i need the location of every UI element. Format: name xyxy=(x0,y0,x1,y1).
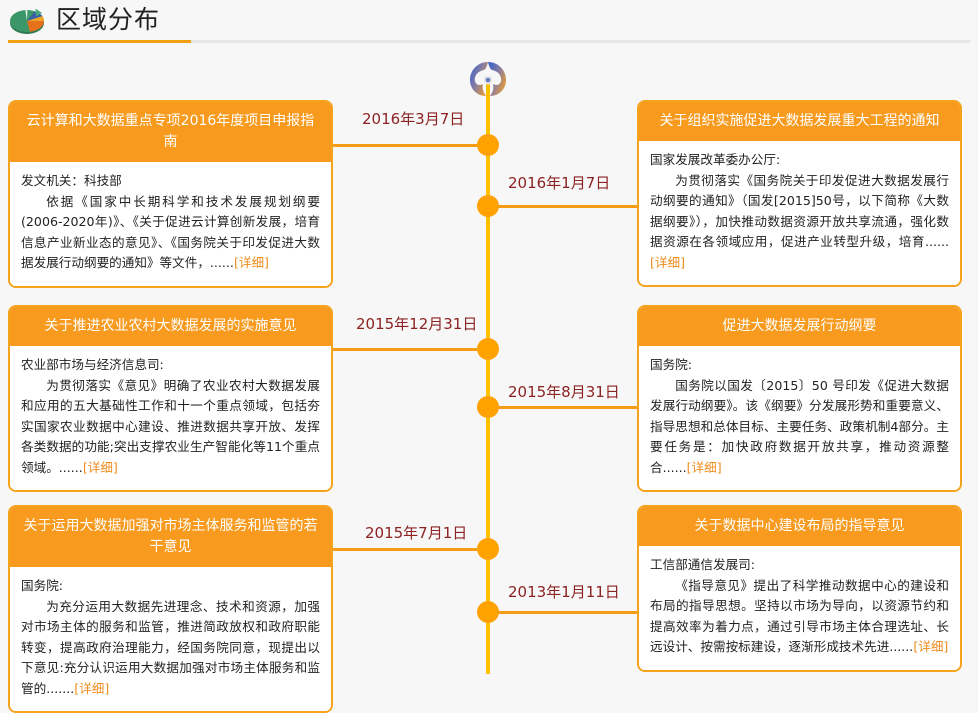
timeline-card-summary: 国务院以国发〔2015〕50 号印发《促进大数据发展行动纲要》。该《纲要》分发展… xyxy=(650,376,949,479)
timeline-card-title: 促进大数据发展行动纲要 xyxy=(639,307,960,346)
timeline-node-5[interactable] xyxy=(477,601,499,623)
timeline-connector-4 xyxy=(333,548,487,551)
detail-link[interactable]: [详细] xyxy=(913,639,948,654)
detail-link[interactable]: [详细] xyxy=(83,460,118,475)
timeline-date-1: 2016年1月7日 xyxy=(508,172,610,193)
timeline-card-org: 农业部市场与经济信息司: xyxy=(21,355,320,376)
detail-link[interactable]: [详细] xyxy=(234,255,269,270)
timeline-date-4: 2015年7月1日 xyxy=(365,522,467,543)
timeline-node-4[interactable] xyxy=(477,538,499,560)
timeline-card-body: 发文机关：科技部 依据《国家中长期科学和技术发展规划纲要(2006-2020年)… xyxy=(10,162,331,286)
timeline-card-body: 国家发展改革委办公厅: 为贯彻落实《国务院关于印发促进大数据发展行动纲要的通知》… xyxy=(639,141,960,285)
detail-link[interactable]: [详细] xyxy=(650,255,685,270)
summary-text: 为贯彻落实《国务院关于印发促进大数据发展行动纲要的通知》（国发[2015]50号… xyxy=(650,173,949,250)
summary-text: 依据《国家中长期科学和技术发展规划纲要(2006-2020年)》、《关于促进云计… xyxy=(21,194,320,271)
timeline-card-2[interactable]: 关于推进农业农村大数据发展的实施意见 农业部市场与经济信息司: 为贯彻落实《意见… xyxy=(8,305,333,492)
timeline-connector-5 xyxy=(489,611,637,614)
pie-chart-icon xyxy=(8,4,48,36)
timeline-date-2: 2015年12月31日 xyxy=(356,313,477,334)
timeline-card-body: 工信部通信发展司: 《指导意见》提出了科学推动数据中心的建设和布局的指导思想。坚… xyxy=(639,546,960,670)
timeline-card-title: 关于组织实施促进大数据发展重大工程的通知 xyxy=(639,102,960,141)
summary-ellipsis: ....... xyxy=(46,681,74,696)
timeline-date-5: 2013年1月11日 xyxy=(508,581,620,602)
timeline-card-body: 国务院: 国务院以国发〔2015〕50 号印发《促进大数据发展行动纲要》。该《纲… xyxy=(639,346,960,490)
timeline-card-title: 关于数据中心建设布局的指导意见 xyxy=(639,507,960,546)
timeline-node-3[interactable] xyxy=(477,396,499,418)
timeline-card-summary: 为贯彻落实《国务院关于印发促进大数据发展行动纲要的通知》（国发[2015]50号… xyxy=(650,171,949,274)
timeline-card-body: 国务院: 为充分运用大数据先进理念、技术和资源，加强对市场主体的服务和监管，推进… xyxy=(10,567,331,711)
timeline-card-summary: 《指导意见》提出了科学推动数据中心的建设和布局的指导思想。坚持以市场为导向，以资… xyxy=(650,576,949,658)
timeline-node-2[interactable] xyxy=(477,338,499,360)
timeline-connector-2 xyxy=(333,348,487,351)
timeline-node-0[interactable] xyxy=(477,134,499,156)
timeline-connector-3 xyxy=(489,406,637,409)
summary-ellipsis: ...... xyxy=(925,234,949,249)
timeline-card-org: 发文机关：科技部 xyxy=(21,171,320,192)
timeline-card-1[interactable]: 关于组织实施促进大数据发展重大工程的通知 国家发展改革委办公厅: 为贯彻落实《国… xyxy=(637,100,962,287)
page-header: 区域分布 xyxy=(0,0,978,44)
summary-ellipsis: ...... xyxy=(59,460,83,475)
page-title: 区域分布 xyxy=(56,4,160,36)
timeline-connector-0 xyxy=(333,144,487,147)
summary-ellipsis: ...... xyxy=(663,460,687,475)
timeline-card-title: 关于运用大数据加强对市场主体服务和监管的若干意见 xyxy=(10,507,331,567)
timeline-card-org: 工信部通信发展司: xyxy=(650,555,949,576)
timeline-card-summary: 为贯彻落实《意见》明确了农业农村大数据发展和应用的五大基础性工作和十一个重点领域… xyxy=(21,376,320,479)
detail-link[interactable]: [详细] xyxy=(687,460,722,475)
timeline-card-summary: 依据《国家中长期科学和技术发展规划纲要(2006-2020年)》、《关于促进云计… xyxy=(21,192,320,274)
header-divider-accent xyxy=(8,40,191,43)
detail-link[interactable]: [详细] xyxy=(74,681,109,696)
timeline-card-org: 国务院: xyxy=(21,576,320,597)
timeline-spine xyxy=(486,78,490,674)
header-inner: 区域分布 xyxy=(8,0,160,40)
timeline-node-1[interactable] xyxy=(477,195,499,217)
timeline-card-4[interactable]: 关于运用大数据加强对市场主体服务和监管的若干意见 国务院: 为充分运用大数据先进… xyxy=(8,505,333,713)
timeline-card-3[interactable]: 促进大数据发展行动纲要 国务院: 国务院以国发〔2015〕50 号印发《促进大数… xyxy=(637,305,962,492)
timeline-card-org: 国务院: xyxy=(650,355,949,376)
timeline-date-3: 2015年8月31日 xyxy=(508,381,620,402)
vortex-spiral-icon xyxy=(466,58,510,102)
timeline-card-title: 关于推进农业农村大数据发展的实施意见 xyxy=(10,307,331,346)
timeline-card-org: 国家发展改革委办公厅: xyxy=(650,150,949,171)
timeline-card-0[interactable]: 云计算和大数据重点专项2016年度项目申报指南 发文机关：科技部 依据《国家中长… xyxy=(8,100,333,288)
summary-ellipsis: ...... xyxy=(210,255,234,270)
timeline-connector-1 xyxy=(489,205,637,208)
timeline-date-0: 2016年3月7日 xyxy=(362,108,464,129)
header-divider xyxy=(8,40,970,43)
timeline-card-summary: 为充分运用大数据先进理念、技术和资源，加强对市场主体的服务和监管，推进简政放权和… xyxy=(21,597,320,700)
timeline-card-5[interactable]: 关于数据中心建设布局的指导意见 工信部通信发展司: 《指导意见》提出了科学推动数… xyxy=(637,505,962,672)
timeline-card-title: 云计算和大数据重点专项2016年度项目申报指南 xyxy=(10,102,331,162)
timeline-card-body: 农业部市场与经济信息司: 为贯彻落实《意见》明确了农业农村大数据发展和应用的五大… xyxy=(10,346,331,490)
summary-ellipsis: ...... xyxy=(889,639,913,654)
